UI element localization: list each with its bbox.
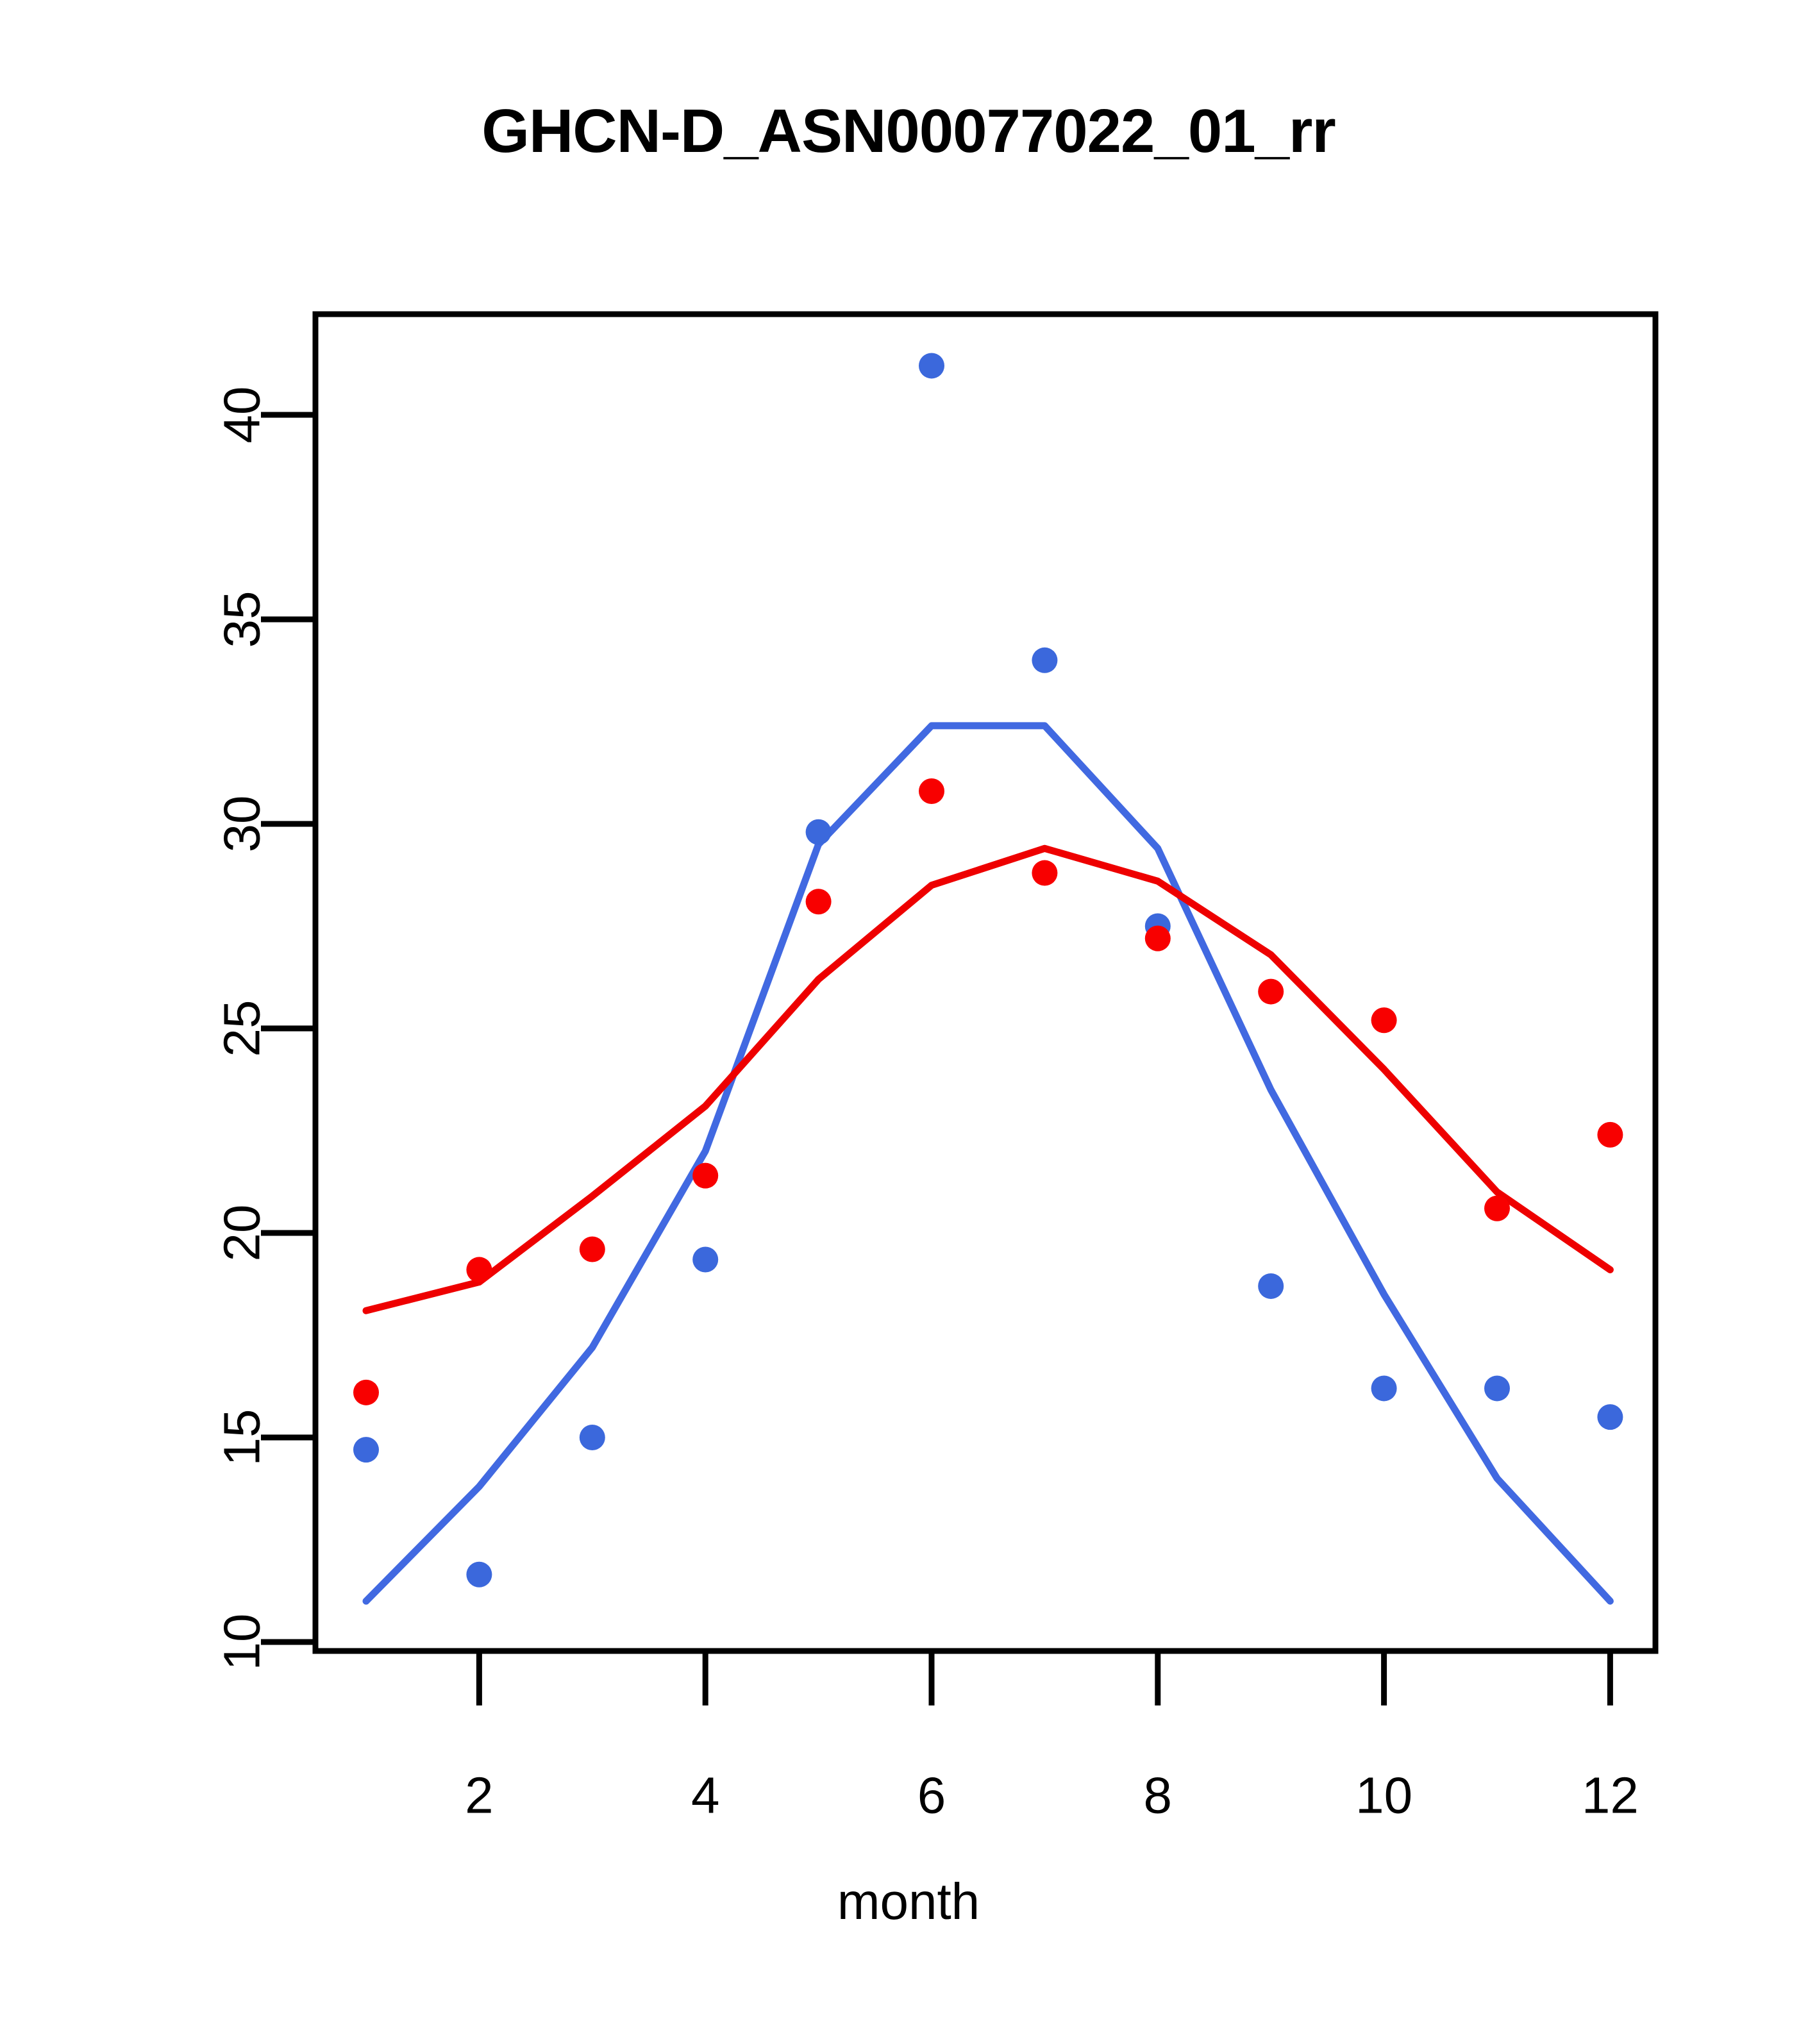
data-point: [806, 819, 832, 845]
data-point: [1371, 1375, 1397, 1401]
y-tick-label: 20: [214, 1205, 271, 1262]
red-points: [353, 778, 1623, 1405]
x-axis-ticks: 24681012: [465, 1651, 1639, 1824]
x-tick-label: 6: [917, 1767, 946, 1824]
plot-page: GHCN-D_ASN00077022_01_rr 10152025303540 …: [0, 0, 1817, 2044]
y-tick-label: 25: [214, 1000, 271, 1057]
data-point: [806, 889, 832, 914]
x-tick-label: 2: [465, 1767, 494, 1824]
data-point: [580, 1425, 605, 1450]
data-point: [1032, 648, 1057, 673]
chart-canvas: 10152025303540 24681012: [0, 0, 1817, 2044]
data-point: [692, 1246, 718, 1272]
data-point: [1258, 1273, 1284, 1299]
x-tick-label: 12: [1582, 1767, 1639, 1824]
data-point: [1597, 1404, 1623, 1430]
series-lines: [366, 726, 1610, 1601]
data-point: [919, 353, 944, 378]
blue-line: [366, 726, 1610, 1601]
y-tick-label: 35: [214, 591, 271, 648]
data-point: [353, 1380, 379, 1405]
data-point: [1484, 1375, 1510, 1401]
y-tick-label: 40: [214, 387, 271, 444]
data-point: [1597, 1122, 1623, 1148]
y-tick-label: 30: [214, 796, 271, 853]
data-point: [580, 1237, 605, 1262]
data-point: [1484, 1196, 1510, 1221]
x-tick-label: 8: [1144, 1767, 1173, 1824]
data-point: [1032, 860, 1057, 886]
x-axis-label: month: [0, 1872, 1817, 1931]
y-axis-ticks: 10152025303540: [214, 387, 316, 1671]
data-point: [919, 778, 944, 804]
x-tick-label: 4: [691, 1767, 720, 1824]
y-tick-label: 10: [214, 1614, 271, 1671]
data-point: [692, 1163, 718, 1189]
data-point: [466, 1562, 492, 1587]
plot-frame: [315, 314, 1655, 1651]
y-tick-label: 15: [214, 1409, 271, 1466]
data-point: [1371, 1007, 1397, 1033]
data-point: [1258, 979, 1284, 1005]
data-point: [466, 1257, 492, 1282]
data-point: [1145, 926, 1171, 951]
data-point: [353, 1437, 379, 1462]
x-tick-label: 10: [1355, 1767, 1412, 1824]
red-line: [366, 848, 1610, 1311]
